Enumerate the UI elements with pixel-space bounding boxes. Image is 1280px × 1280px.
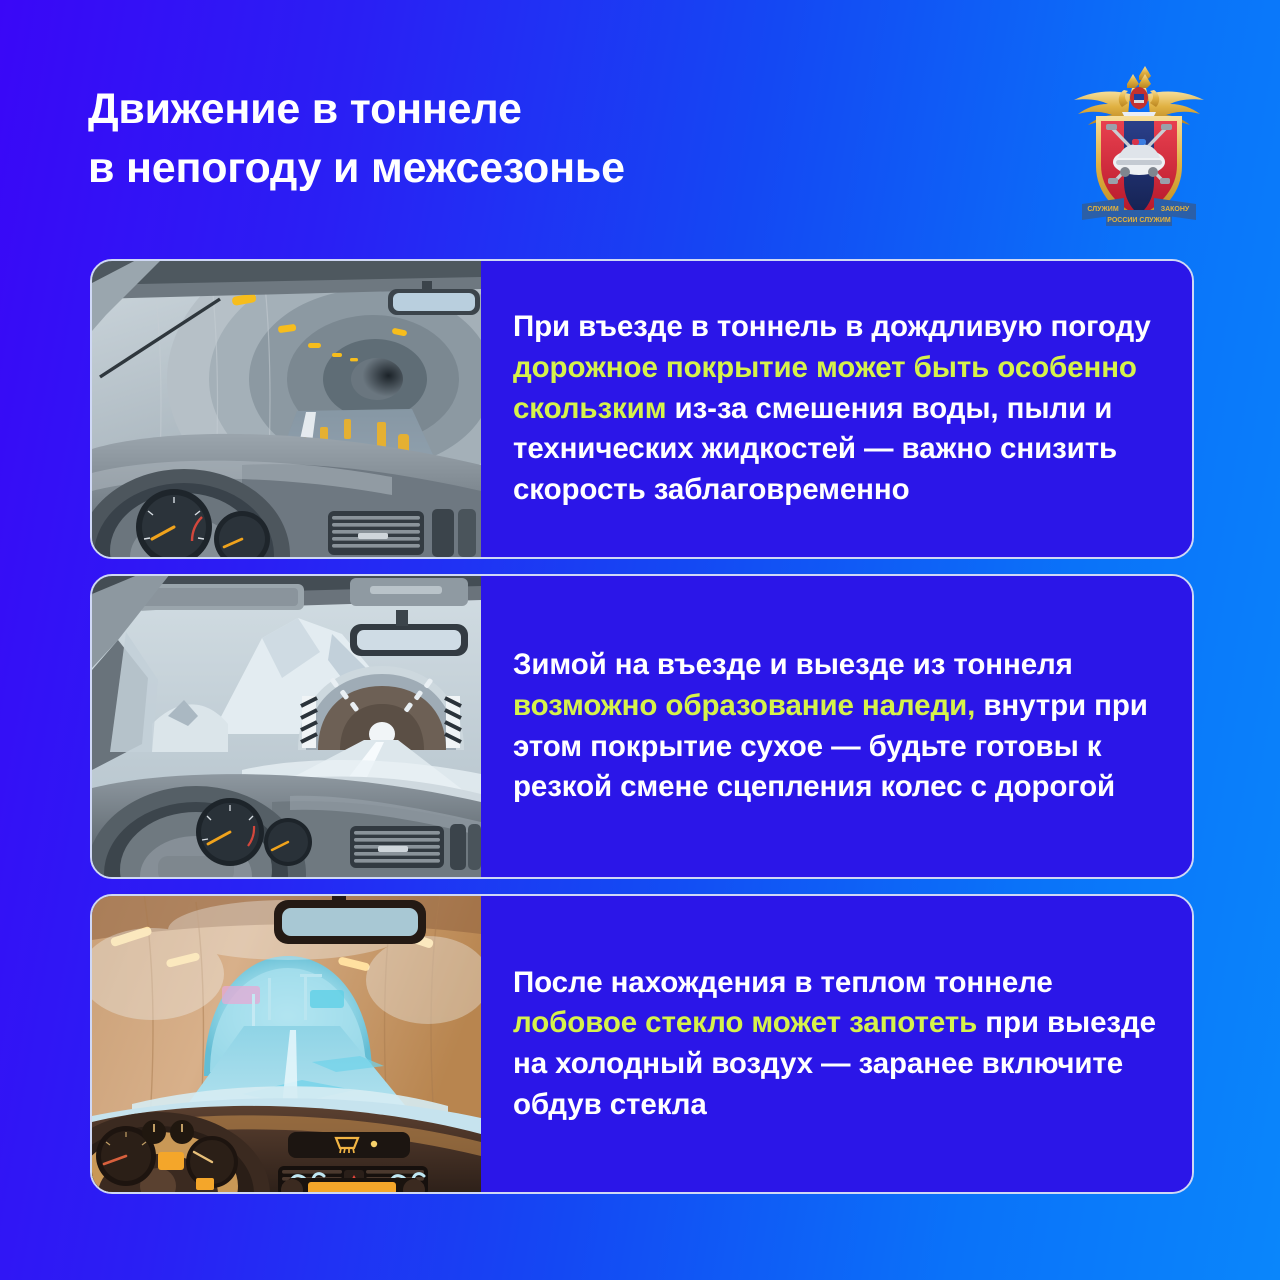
svg-text:РОССИИ СЛУЖИМ: РОССИИ СЛУЖИМ — [1107, 217, 1171, 224]
tip-card-winter-ice: Зимой на въезде и выезде из тоннеля возм… — [90, 574, 1194, 879]
gibdd-emblem: СЛУЖИМ ЗАКОНУ РОССИИ СЛУЖИМ — [1044, 54, 1234, 244]
tip-run-highlight: возможно образование наледи, — [513, 689, 975, 722]
tip-text-panel: Зимой на въезде и выезде из тоннеля возм… — [481, 576, 1192, 877]
rear-view-mirror — [274, 896, 426, 944]
tip-text-panel: После нахождения в теплом тоннеле лобово… — [481, 896, 1192, 1192]
tip-run-plain: После нахождения в теплом тоннеле — [513, 966, 1053, 999]
svg-text:СЛУЖИМ: СЛУЖИМ — [1087, 206, 1119, 213]
tip-card-fogged-windshield: После нахождения в теплом тоннеле лобово… — [90, 894, 1194, 1194]
tip-text-fog: После нахождения в теплом тоннеле лобово… — [513, 963, 1166, 1126]
tip-text-winter: Зимой на въезде и выезде из тоннеля возм… — [513, 645, 1166, 808]
tip-text-rain: При въезде в тоннель в дождливую погоду … — [513, 307, 1166, 511]
illustration-rainy-tunnel-driver-view — [92, 261, 481, 557]
tip-run-highlight: лобовое стекло может запотеть — [513, 1006, 977, 1039]
defroster-panel — [288, 1132, 410, 1158]
tip-card-rain-tunnel: При въезде в тоннель в дождливую погоду … — [90, 259, 1194, 559]
center-console — [281, 1178, 425, 1192]
tip-text-panel: При въезде в тоннель в дождливую погоду … — [481, 261, 1192, 557]
air-vents — [350, 824, 481, 870]
page-title: Движение в тоннеле в непогоду и межсезон… — [88, 80, 625, 199]
header: Движение в тоннеле в непогоду и межсезон… — [0, 0, 1280, 250]
tips-card-list: При въезде в тоннель в дождливую погоду … — [90, 259, 1194, 1194]
tip-run-plain: Зимой на въезде и выезде из тоннеля — [513, 648, 1073, 681]
illustration-warm-tunnel-exit-defrost — [92, 896, 481, 1192]
svg-text:ЗАКОНУ: ЗАКОНУ — [1161, 206, 1190, 213]
tip-run-plain: При въезде в тоннель в дождливую погоду — [513, 310, 1151, 343]
air-vents — [328, 509, 476, 557]
illustration-snowy-tunnel-entrance — [92, 576, 481, 877]
